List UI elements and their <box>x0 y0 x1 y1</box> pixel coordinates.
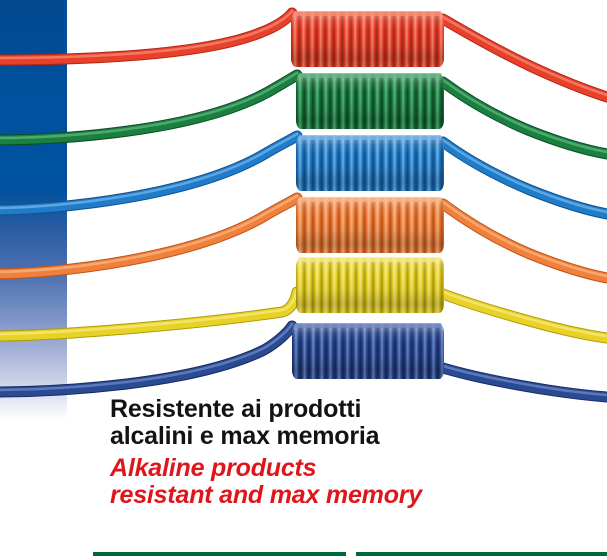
hose-coil-top-highlight-navy <box>294 323 442 328</box>
hose-coil-top-highlight-orange <box>298 197 442 202</box>
hose-coil-top-highlight-yellow <box>298 257 442 262</box>
hose-navy <box>0 312 607 404</box>
hose-coil-top-highlight-red <box>293 11 442 16</box>
hose-coil-body-red <box>291 12 444 67</box>
caption-italian-line-1: Resistente ai prodotti <box>110 396 590 423</box>
hose-coil-body-navy <box>292 324 444 379</box>
caption-english-line-1: Alkaline products <box>110 455 590 482</box>
hose-coil-top-highlight-green <box>298 73 442 78</box>
caption-block: Resistente ai prodotti alcalini e max me… <box>110 396 590 509</box>
hose-coil-body-green <box>296 74 444 129</box>
green-rule-right <box>356 552 607 556</box>
hose-tail-left <box>0 326 292 392</box>
hose-coil-top-highlight-blue <box>298 135 442 140</box>
hose-coil-body-orange <box>296 198 444 253</box>
slide-canvas: Resistente ai prodotti alcalini e max me… <box>0 0 607 560</box>
coiled-hose-illustration <box>0 0 607 395</box>
caption-italian-line-2: alcalini e max memoria <box>110 423 590 450</box>
hose-coil-navy <box>292 312 444 404</box>
caption-english-line-2: resistant and max memory <box>110 482 590 509</box>
green-rule-left <box>93 552 346 556</box>
hose-coil-body-blue <box>296 136 444 191</box>
hose-coil-body-yellow <box>296 258 444 313</box>
